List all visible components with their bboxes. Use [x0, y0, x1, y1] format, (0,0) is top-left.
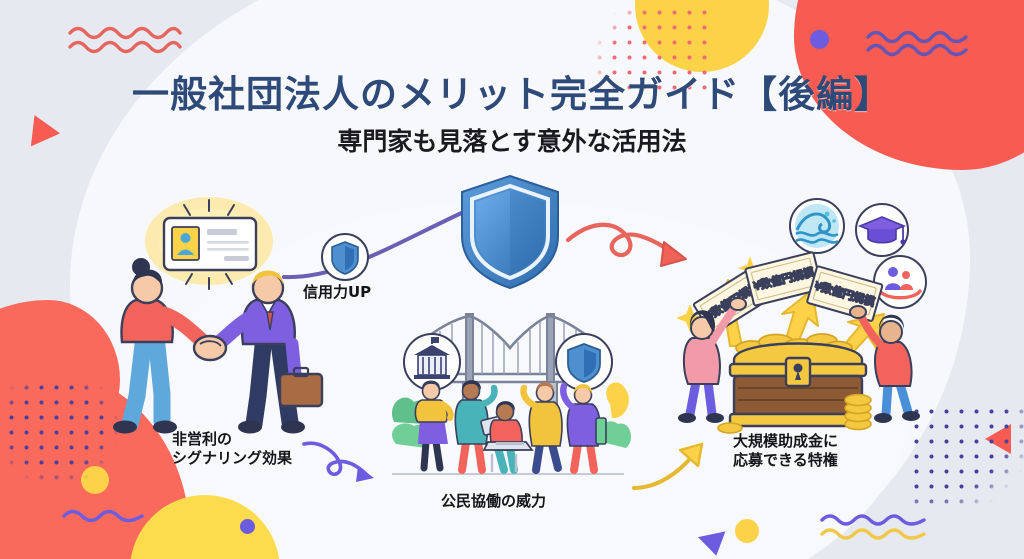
caption-nonprofit-line1: 非営利の [172, 430, 292, 449]
caption-public-private-collaboration: 公民協働の威力 [441, 492, 546, 511]
wave-ocean-icon [790, 199, 844, 253]
decor-dot-purple-top-right [810, 30, 829, 49]
decor-dots-purple-left [4, 380, 119, 485]
page-subtitle: 専門家も見落とす意外な活用法 [0, 122, 1024, 158]
caption-trust-up: 信用力UP [303, 283, 371, 302]
scene-treasure-grant: ¥数億円規模 ¥数億円規模 ¥数億円規模 [672, 196, 922, 432]
decor-wave-purple-bottom-left [62, 508, 147, 522]
decor-wave-red-top-left [68, 24, 183, 56]
caption-large-scale-grant: 大規模助成金に 応募できる特権 [733, 432, 838, 470]
decor-wave-purple-top-right [866, 28, 971, 58]
decor-dots-purple-right [909, 404, 1024, 514]
scene-handshake [104, 196, 314, 436]
hero-shield [458, 174, 562, 290]
infographic-canvas: 一般社団法人のメリット完全ガイド【後編】 専門家も見落とす意外な活用法 [0, 0, 1024, 559]
caption-grant-line1: 大規模助成金に [733, 432, 838, 451]
connector-yellow-arrow [630, 444, 720, 496]
page-title: 一般社団法人のメリット完全ガイド【後編】 [0, 64, 1024, 118]
decor-circle-yellow-small-right [735, 519, 759, 543]
decor-wave-bottom-right [820, 512, 930, 544]
connector-purple-arrow-loop [300, 438, 380, 486]
welfare-hands-icon [874, 256, 926, 308]
graduation-cap-icon [856, 204, 908, 256]
caption-nonprofit-signaling: 非営利の シグナリング効果 [172, 430, 292, 468]
caption-grant-line2: 応募できる特権 [733, 451, 838, 470]
caption-nonprofit-line2: シグナリング効果 [172, 449, 292, 468]
badge-trust-up [320, 232, 370, 282]
scene-bridge-collaboration [392, 292, 624, 492]
decor-dot-purple-bottom [240, 519, 255, 534]
